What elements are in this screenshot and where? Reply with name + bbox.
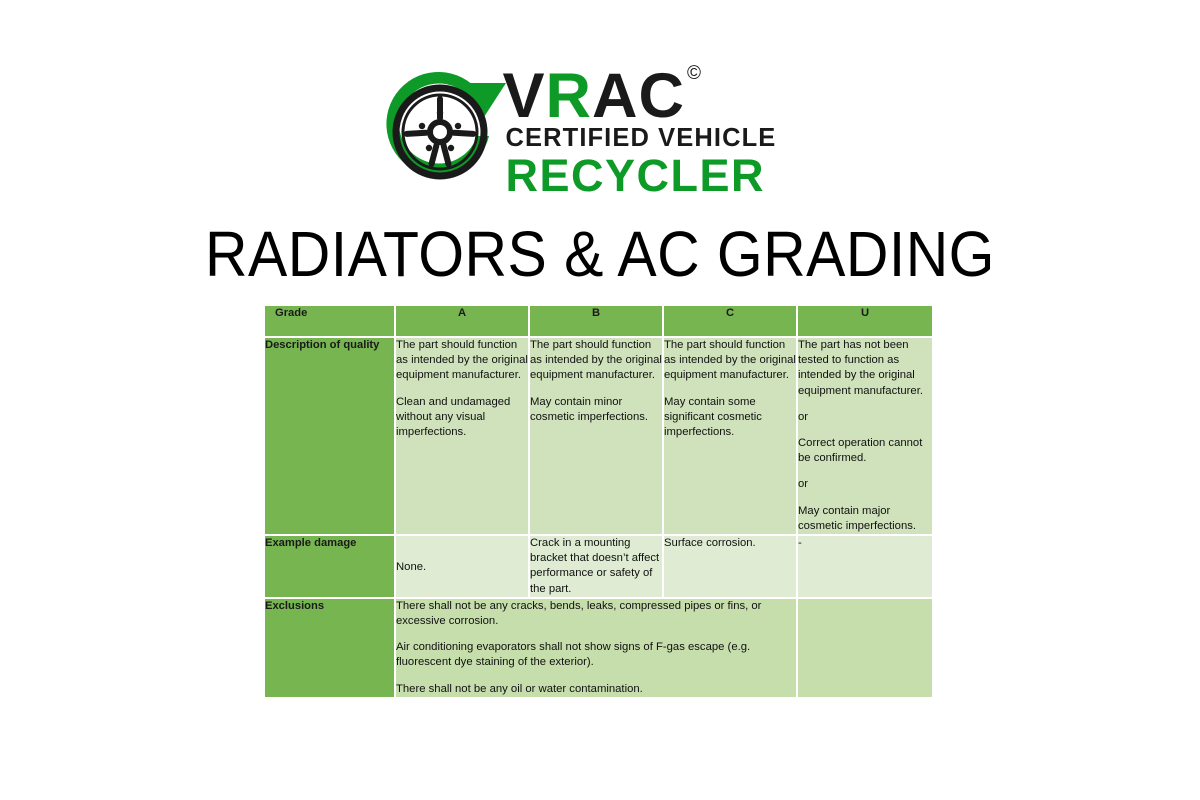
cell-example-damage-c: Surface corrosion. [664, 536, 798, 599]
cell-paragraph: None. [396, 536, 528, 575]
cell-description-a: The part should function as intended by … [396, 338, 530, 536]
cell-paragraph: May contain some significant cosmetic im… [664, 395, 796, 441]
cell-paragraph: or [798, 410, 932, 425]
cell-paragraph: There shall not be any cracks, bends, le… [396, 599, 796, 629]
header-grade-u: U [798, 306, 932, 338]
header-grade-a: A [396, 306, 530, 338]
row-label-exclusions: Exclusions [265, 599, 396, 699]
logo-wordmark-r: R [546, 61, 593, 131]
cell-paragraph: Surface corrosion. [664, 536, 796, 551]
cell-example-damage-a: None. [396, 536, 530, 599]
table-row-example-damage: Example damage None. Crack in a mounting… [265, 536, 932, 599]
cell-exclusions-u-empty [798, 599, 932, 699]
vrac-wheel-recycle-icon [377, 64, 513, 194]
row-label-description: Description of quality [265, 338, 396, 536]
cell-description-b: The part should function as intended by … [530, 338, 664, 536]
logo-wordmark: VRAC© [503, 58, 701, 128]
copyright-icon: © [687, 63, 702, 84]
cell-paragraph: or [798, 477, 932, 492]
cell-paragraph: Clean and undamaged without any visual i… [396, 395, 528, 441]
logo-subtitle: CERTIFIED VEHICLE [506, 124, 777, 153]
cell-exclusions-merged: There shall not be any cracks, bends, le… [396, 599, 798, 699]
cell-paragraph: May contain minor cosmetic imperfections… [530, 395, 662, 425]
row-label-example-damage: Example damage [265, 536, 396, 599]
cell-paragraph: Air conditioning evaporators shall not s… [396, 640, 796, 670]
cell-description-c: The part should function as intended by … [664, 338, 798, 536]
header-grade-c: C [664, 306, 798, 338]
table-row-description: Description of quality The part should f… [265, 338, 932, 536]
cell-paragraph: The part should function as intended by … [530, 338, 662, 384]
cell-paragraph: May contain major cosmetic imperfections… [798, 504, 932, 534]
table-row-exclusions: Exclusions There shall not be any cracks… [265, 599, 932, 699]
logo-wordmark-ac: AC [592, 61, 685, 131]
cell-example-damage-b: Crack in a mounting bracket that doesn’t… [530, 536, 664, 599]
vrac-logo: VRAC© CERTIFIED VEHICLE RECYCLER [0, 56, 1200, 201]
cell-paragraph: Crack in a mounting bracket that doesn’t… [530, 536, 662, 597]
logo-wordmark-v: V [503, 61, 546, 131]
cell-paragraph: The part should function as intended by … [396, 338, 528, 384]
cell-paragraph: The part has not been tested to function… [798, 338, 932, 399]
cell-paragraph: - [798, 536, 932, 551]
table-header-row: Grade A B C U [265, 306, 932, 338]
cell-paragraph: The part should function as intended by … [664, 338, 796, 384]
grading-table: Grade A B C U Description of quality The… [265, 306, 932, 699]
header-grade-label: Grade [265, 306, 396, 338]
cell-paragraph: There shall not be any oil or water cont… [396, 682, 796, 697]
cell-example-damage-u: - [798, 536, 932, 599]
logo-recycler-text: RECYCLER [506, 153, 766, 199]
header-grade-b: B [530, 306, 664, 338]
page-title: RADIATORS & AC GRADING [48, 218, 1152, 290]
cell-paragraph: Correct operation cannot be confirmed. [798, 436, 932, 466]
cell-description-u: The part has not been tested to function… [798, 338, 932, 536]
